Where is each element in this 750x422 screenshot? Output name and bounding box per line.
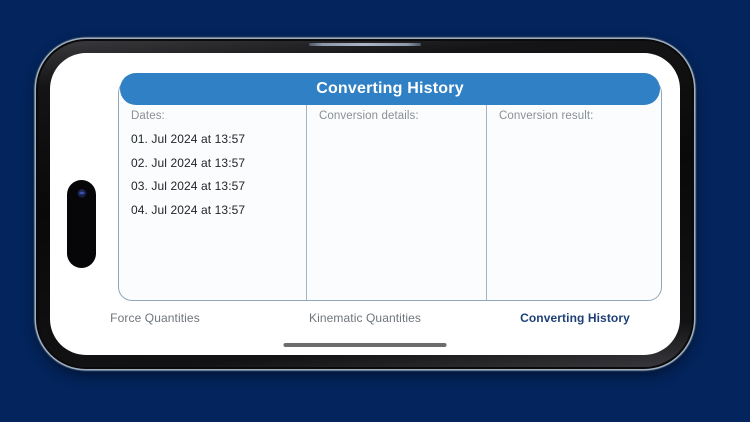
dynamic-island <box>67 180 96 268</box>
column-conversion-result: Conversion result: <box>486 96 661 300</box>
list-item[interactable]: 04. Jul 2024 at 13:57 <box>131 199 306 223</box>
history-card: Dates: 01. Jul 2024 at 13:57 02. Jul 202… <box>118 79 662 301</box>
tab-converting-history[interactable]: Converting History <box>470 311 680 325</box>
home-indicator[interactable] <box>284 343 447 348</box>
earpiece-speaker-icon <box>309 43 421 46</box>
column-conversion-details: Conversion details: <box>306 96 486 300</box>
column-dates: Dates: 01. Jul 2024 at 13:57 02. Jul 202… <box>119 96 306 300</box>
column-conversion-result-label: Conversion result: <box>499 110 661 122</box>
list-item[interactable]: 02. Jul 2024 at 13:57 <box>131 152 306 176</box>
column-conversion-details-label: Conversion details: <box>319 110 486 122</box>
list-item[interactable]: 03. Jul 2024 at 13:57 <box>131 175 306 199</box>
history-columns: Dates: 01. Jul 2024 at 13:57 02. Jul 202… <box>119 96 661 300</box>
column-dates-label: Dates: <box>131 110 306 122</box>
phone-device-frame: Dates: 01. Jul 2024 at 13:57 02. Jul 202… <box>36 39 694 369</box>
app-content: Dates: 01. Jul 2024 at 13:57 02. Jul 202… <box>50 53 680 355</box>
front-camera-icon <box>77 189 86 198</box>
dates-list: 01. Jul 2024 at 13:57 02. Jul 2024 at 13… <box>131 128 306 222</box>
page-title: Converting History <box>316 80 464 98</box>
phone-screen: Dates: 01. Jul 2024 at 13:57 02. Jul 202… <box>50 53 680 355</box>
list-item[interactable]: 01. Jul 2024 at 13:57 <box>131 128 306 152</box>
tab-kinematic-quantities[interactable]: Kinematic Quantities <box>260 311 470 325</box>
page-title-bar: Converting History <box>120 73 660 105</box>
tab-force-quantities[interactable]: Force Quantities <box>50 311 260 325</box>
bottom-tab-bar: Force Quantities Kinematic Quantities Co… <box>50 305 680 331</box>
